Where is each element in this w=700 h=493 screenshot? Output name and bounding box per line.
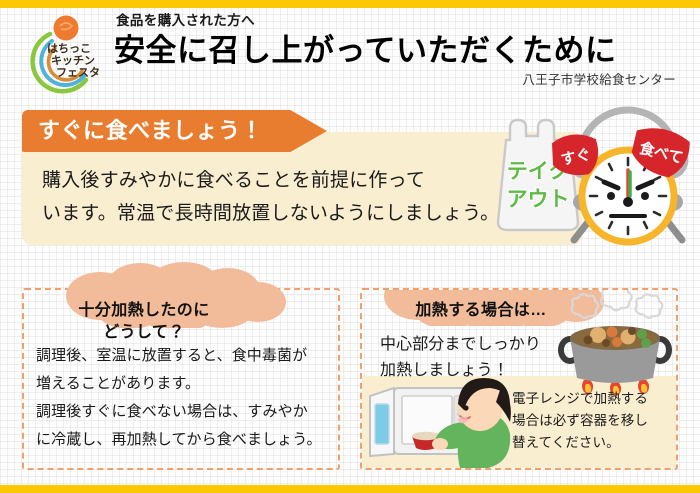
why-body-text: 調理後、室温に放置すると、食中毒菌が 増えることがあります。 調理後すぐに食べな… <box>36 342 332 454</box>
header-text-block: 食品を購入された方へ 安全に召し上がっていただくために 八王子市学校給食センター <box>112 12 690 88</box>
header: はちっこ キッチン フェスタ 食品を購入された方へ 安全に召し上がっていただくた… <box>0 8 700 100</box>
cooking-pot-illustration <box>554 288 676 400</box>
svg-text:キッチン: キッチン <box>51 54 95 67</box>
microwave-note-text: 電子レンジで加熱する 場合は必ず容器を移し 替えてください。 <box>512 388 672 454</box>
why-line: 増えることがあります。 <box>36 370 332 398</box>
svg-text:アウト: アウト <box>507 188 570 211</box>
why-section: 十分加熱したのに どうして？ 調理後、室温に放置すると、食中毒菌が 増えることが… <box>22 288 340 470</box>
why-cloud-label: 十分加熱したのに どうして？ <box>24 300 264 344</box>
svg-text:フェスタ: フェスタ <box>56 66 100 79</box>
header-eyebrow: 食品を購入された方へ <box>116 12 690 30</box>
top-gold-bar <box>0 0 700 8</box>
takeout-bag-and-clock-illustration: テイク アウト <box>492 106 700 248</box>
steam-icon <box>572 288 663 318</box>
microwave-person-icon <box>368 376 516 468</box>
logo-icon: はちっこ キッチン フェスタ <box>16 14 116 96</box>
why-cloud-line: どうして？ <box>24 322 264 344</box>
pot-icon <box>554 288 676 400</box>
why-line: 調理後、室温に放置すると、食中毒菌が <box>36 342 332 370</box>
heat-section: 加熱する場合は… 中心部分までしっかり 加熱しましょう！ <box>360 288 678 470</box>
organization-name: 八王子市学校給食センター <box>112 72 676 88</box>
heat-line: 中心部分までしっかり <box>380 332 541 358</box>
page-title: 安全に召し上がっていただくために <box>114 31 690 71</box>
why-line: に冷蔵し、再加熱してから食べましょう。 <box>36 426 332 454</box>
microwave-note-line: 電子レンジで加熱する <box>512 388 672 410</box>
takeout-clock-icon: テイク アウト <box>492 106 700 248</box>
microwave-note-line: 場合は必ず容器を移し <box>512 410 672 432</box>
bottom-gold-bar <box>0 485 700 493</box>
poster-root: はちっこ キッチン フェスタ 食品を購入された方へ 安全に召し上がっていただくた… <box>0 0 700 493</box>
hachikko-kitchen-festa-logo: はちっこ キッチン フェスタ <box>16 14 116 96</box>
why-line: 調理後すぐに食べない場合は、すみやか <box>36 398 332 426</box>
alarm-clock-icon <box>563 110 694 242</box>
microwave-note-line: 替えてください。 <box>512 432 672 454</box>
eat-soon-banner-label: すぐに食べましょう！ <box>38 118 263 144</box>
microwave-illustration <box>368 376 516 468</box>
svg-text:はちっこ: はちっこ <box>47 42 91 55</box>
why-cloud-line: 十分加熱したのに <box>24 300 264 322</box>
